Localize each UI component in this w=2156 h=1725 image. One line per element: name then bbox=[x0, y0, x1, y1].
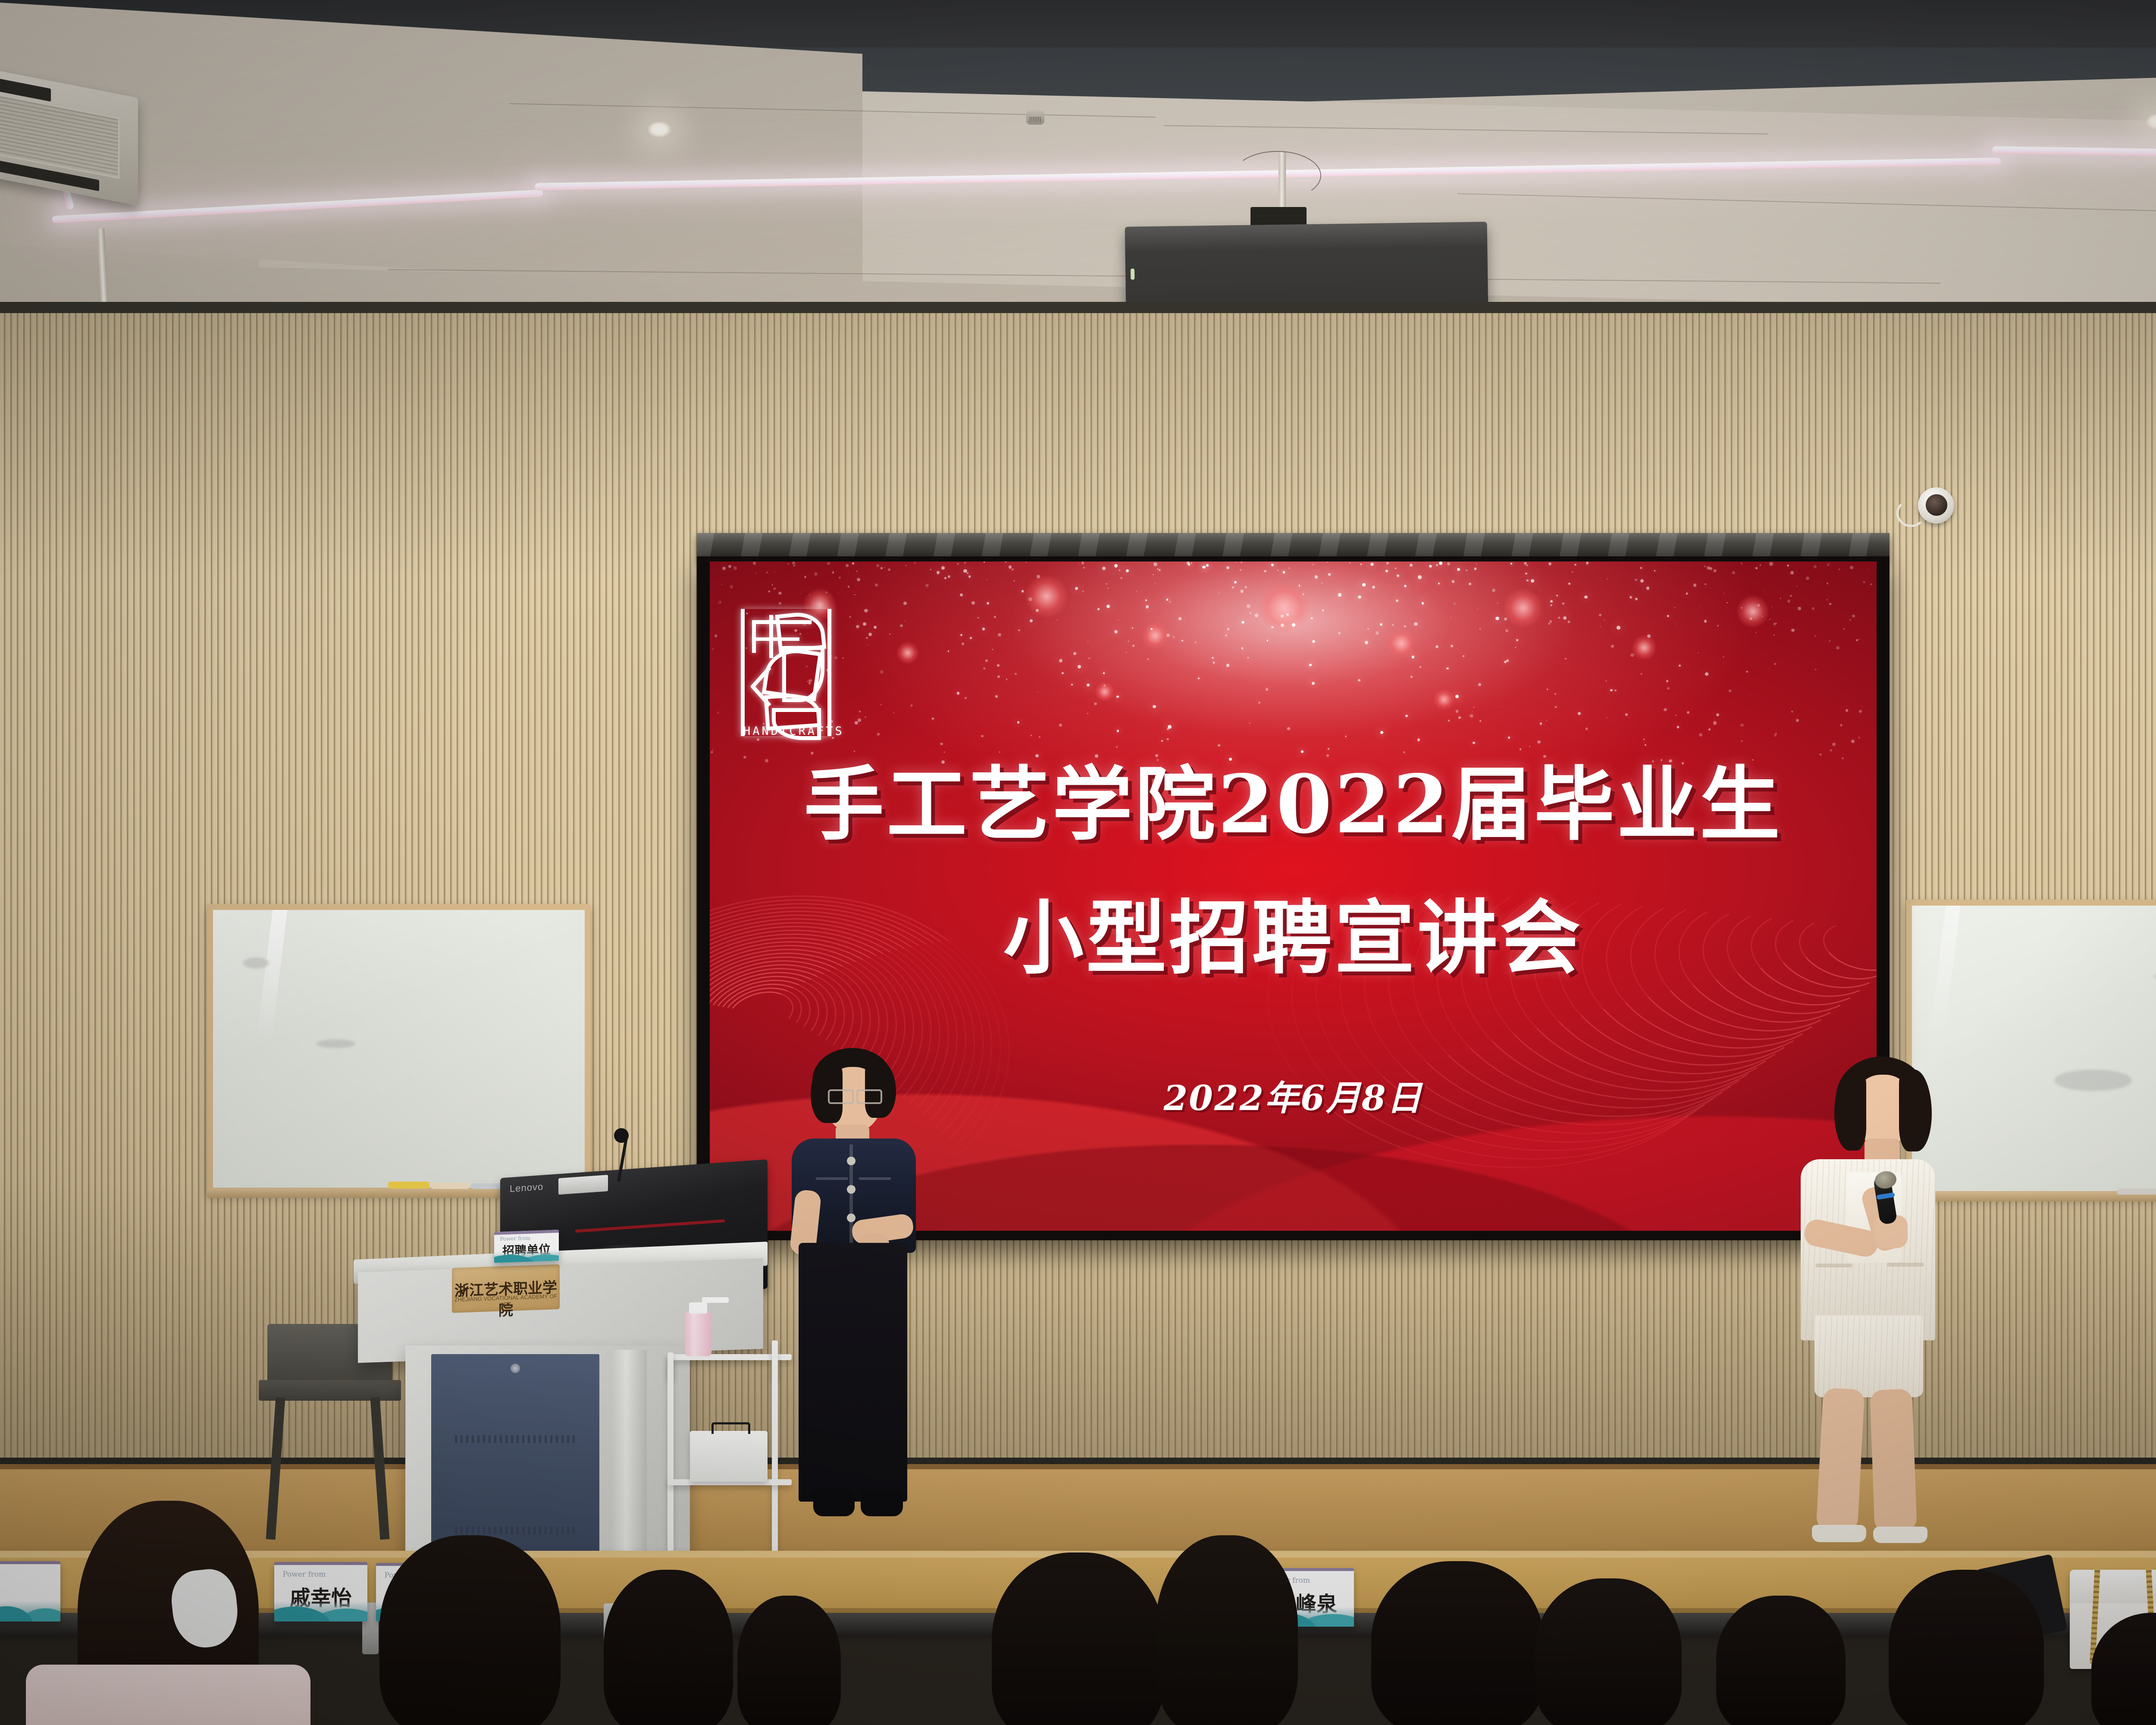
name-card-1: Power from 戚幸怡 bbox=[274, 1562, 367, 1621]
audience-person bbox=[1156, 1535, 1298, 1725]
podium-plaque: ✓ 浙江艺术职业学院 ZHEJIANG VOCATIONAL ACADEMY O… bbox=[452, 1264, 560, 1313]
monitor-brand-label: Lenovo bbox=[510, 1181, 543, 1195]
presenter-left-shoe bbox=[813, 1489, 855, 1516]
presenter-left-shoe bbox=[861, 1490, 903, 1516]
presenter-right-leg bbox=[1870, 1389, 1917, 1532]
bokeh bbox=[1736, 595, 1769, 628]
whiteboard-left bbox=[207, 904, 591, 1194]
presenter-left-eyeglasses bbox=[856, 1089, 882, 1104]
presenter-left-button bbox=[847, 1157, 856, 1165]
audience-person bbox=[1535, 1578, 1682, 1725]
camera-cable bbox=[1896, 499, 1926, 527]
audience-person bbox=[1889, 1570, 2044, 1725]
whiteboard-right bbox=[1906, 900, 2156, 1197]
podium-lock[interactable] bbox=[511, 1364, 520, 1373]
name-card-edge bbox=[0, 1561, 60, 1621]
speaker-safety-wire bbox=[1233, 151, 1321, 200]
bokeh bbox=[896, 642, 919, 664]
presenter-right-pocket bbox=[1815, 1264, 1852, 1267]
tent-card-recruiter: Power from 招聘单位 bbox=[494, 1229, 559, 1263]
presenter-left-button bbox=[847, 1214, 856, 1222]
audience-person bbox=[1716, 1596, 1846, 1725]
presenter-right-leg bbox=[1816, 1388, 1865, 1532]
presenter-left bbox=[776, 1048, 936, 1527]
audience-person-top bbox=[26, 1665, 310, 1725]
downlight bbox=[647, 121, 672, 138]
audience-person bbox=[737, 1596, 841, 1725]
marker-white[interactable] bbox=[431, 1182, 469, 1189]
presenter-right-sandal bbox=[1873, 1527, 1927, 1543]
presenter-right-pocket bbox=[1887, 1263, 1924, 1267]
presenter-right bbox=[1751, 1057, 1923, 1557]
logo-caption: HANDICRAFTS bbox=[743, 724, 844, 738]
bokeh bbox=[1433, 689, 1455, 710]
bokeh bbox=[1632, 635, 1657, 660]
bokeh bbox=[1025, 575, 1068, 618]
screen-title-line2: 小型招聘宣讲会 bbox=[710, 898, 1877, 978]
sanitizer-nozzle bbox=[702, 1297, 729, 1303]
cart-leg bbox=[667, 1360, 674, 1559]
marker-grey[interactable] bbox=[2117, 1189, 2156, 1195]
lecture-hall-photo: HANDICRAFTS 手工艺学院2022届毕业生 小型招聘宣讲会 2022年6… bbox=[0, 0, 2156, 1725]
podium-cabinet-door[interactable] bbox=[431, 1354, 599, 1557]
monitor-sticker bbox=[558, 1175, 608, 1195]
handicrafts-logo: HANDICRAFTS bbox=[741, 609, 831, 736]
sanitizer-pump[interactable] bbox=[689, 1302, 707, 1314]
monitor-red-accent bbox=[575, 1219, 725, 1233]
podium-microphone-head[interactable] bbox=[614, 1128, 629, 1143]
presenter-left-skirt bbox=[799, 1243, 907, 1502]
marker-yellow[interactable] bbox=[388, 1182, 429, 1189]
audience-person bbox=[604, 1570, 733, 1725]
presenter-right-hair-side bbox=[1834, 1071, 1866, 1151]
smoke-detector bbox=[1026, 110, 1044, 125]
presenter-left-pocket bbox=[859, 1177, 891, 1180]
supply-box-handle[interactable] bbox=[711, 1422, 750, 1434]
screen-title-line1: 手工艺学院2022届毕业生 bbox=[710, 764, 1877, 844]
name-card-1-faint: Power from bbox=[282, 1570, 326, 1579]
bokeh bbox=[1141, 622, 1169, 649]
bokeh bbox=[1503, 588, 1543, 628]
audience-person bbox=[379, 1535, 561, 1725]
presenter-left-eyeglasses bbox=[828, 1089, 854, 1104]
presenter-right-sandal bbox=[1812, 1525, 1866, 1542]
audience-person bbox=[992, 1552, 1164, 1725]
presenter-left-button bbox=[847, 1185, 856, 1194]
bokeh bbox=[1258, 582, 1310, 634]
presenter-right-shorts-stripes bbox=[1814, 1315, 1923, 1397]
podium-vent bbox=[455, 1527, 576, 1534]
audience-person bbox=[1371, 1561, 1544, 1725]
hand-sanitizer-bottle[interactable] bbox=[685, 1311, 711, 1356]
presenter-left-pocket bbox=[816, 1177, 848, 1180]
podium-vent bbox=[455, 1435, 576, 1443]
podium-side-panel bbox=[612, 1350, 647, 1565]
supply-box[interactable] bbox=[690, 1431, 768, 1482]
